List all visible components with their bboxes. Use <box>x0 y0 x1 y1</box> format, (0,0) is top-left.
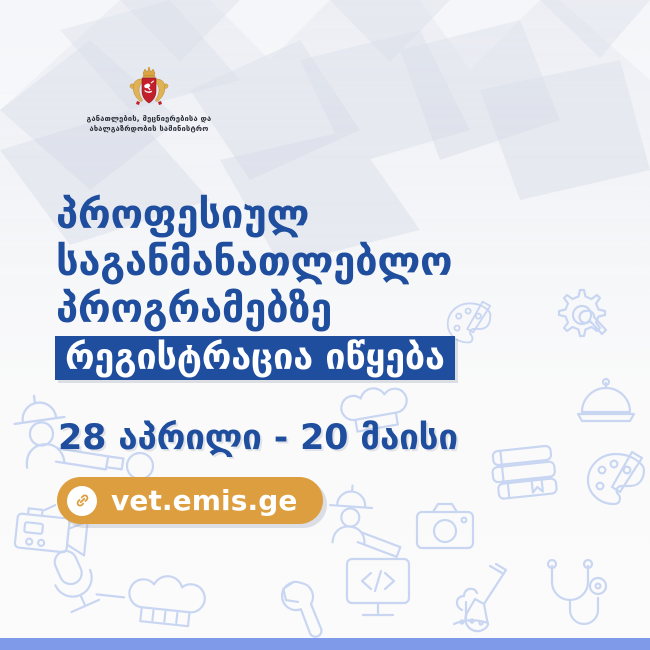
ministry-logo-block: განათლების, მეცნიერებისა და ახალგაზრდობი… <box>44 66 254 134</box>
website-url-label: vet.emis.ge <box>111 487 297 515</box>
headline: პროფესიულ საგანმანათლებლო პროგრამებზე <box>56 192 576 333</box>
headline-line-3: პროგრამებზე <box>56 286 576 333</box>
ministry-name-line-1: განათლების, მეცნიერებისა და <box>44 114 254 124</box>
headline-line-2: საგანმანათლებლო <box>56 239 576 286</box>
registration-highlight-banner: რეგისტრაცია იწყება <box>55 336 455 380</box>
ministry-name-line-2: ახალგაზრდობის სამინისტრო <box>44 124 254 134</box>
poster-canvas: განათლების, მეცნიერებისა და ახალგაზრდობი… <box>0 0 650 650</box>
link-chain-icon <box>67 486 97 516</box>
bottom-accent-bar <box>0 638 650 650</box>
website-url-button[interactable]: vet.emis.ge <box>57 477 323 524</box>
georgian-coat-of-arms-icon <box>129 66 169 108</box>
registration-date-range: 28 აპრილი - 20 მაისი <box>58 418 458 458</box>
headline-line-1: პროფესიულ <box>56 192 576 239</box>
registration-highlight-text: რეგისტრაცია იწყება <box>65 340 445 376</box>
